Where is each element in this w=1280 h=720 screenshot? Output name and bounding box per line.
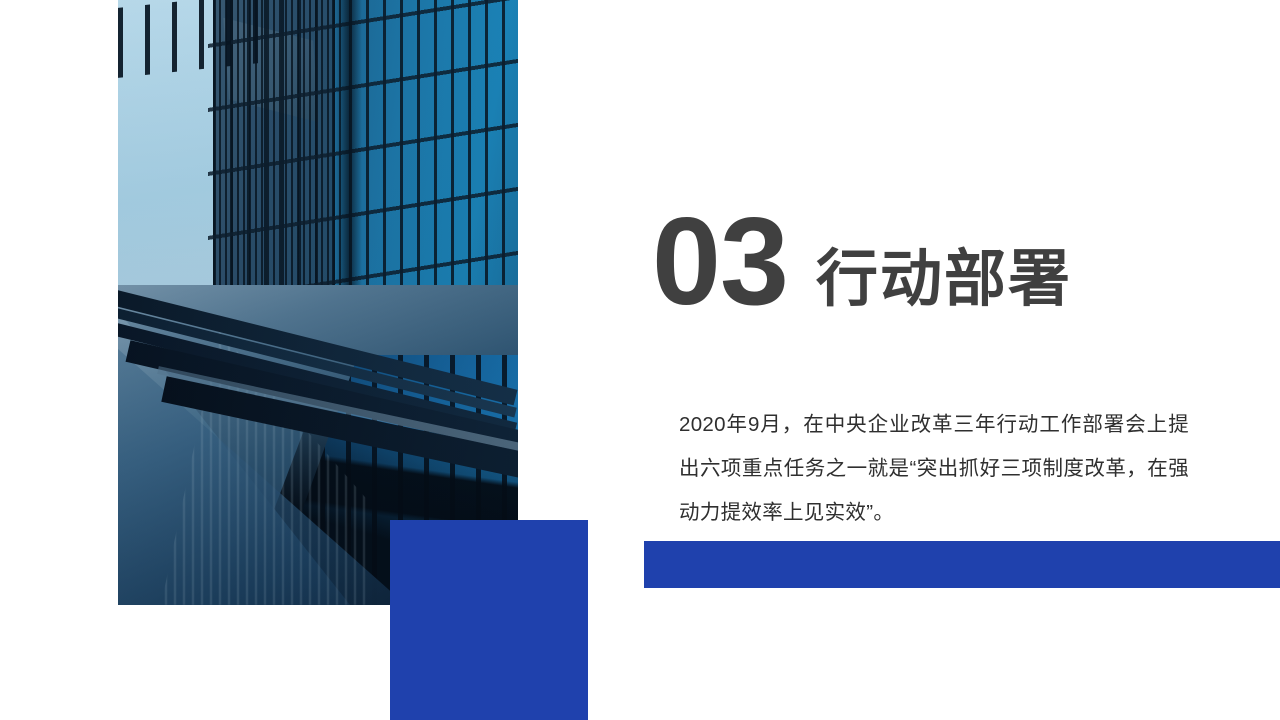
section-title: 03 行动部署 xyxy=(652,207,1072,319)
section-number: 03 xyxy=(652,207,788,319)
blue-accent-square xyxy=(390,520,588,720)
blue-accent-bar xyxy=(644,541,1280,588)
section-title-text: 行动部署 xyxy=(816,249,1072,319)
slide-canvas: 03 行动部署 2020年9月，在中央企业改革三年行动工作部署会上提出六项重点任… xyxy=(0,0,1280,720)
photo-tint-overlay xyxy=(118,0,518,605)
section-body-paragraph: 2020年9月，在中央企业改革三年行动工作部署会上提出六项重点任务之一就是“突出… xyxy=(679,403,1189,535)
building-photo xyxy=(118,0,518,605)
